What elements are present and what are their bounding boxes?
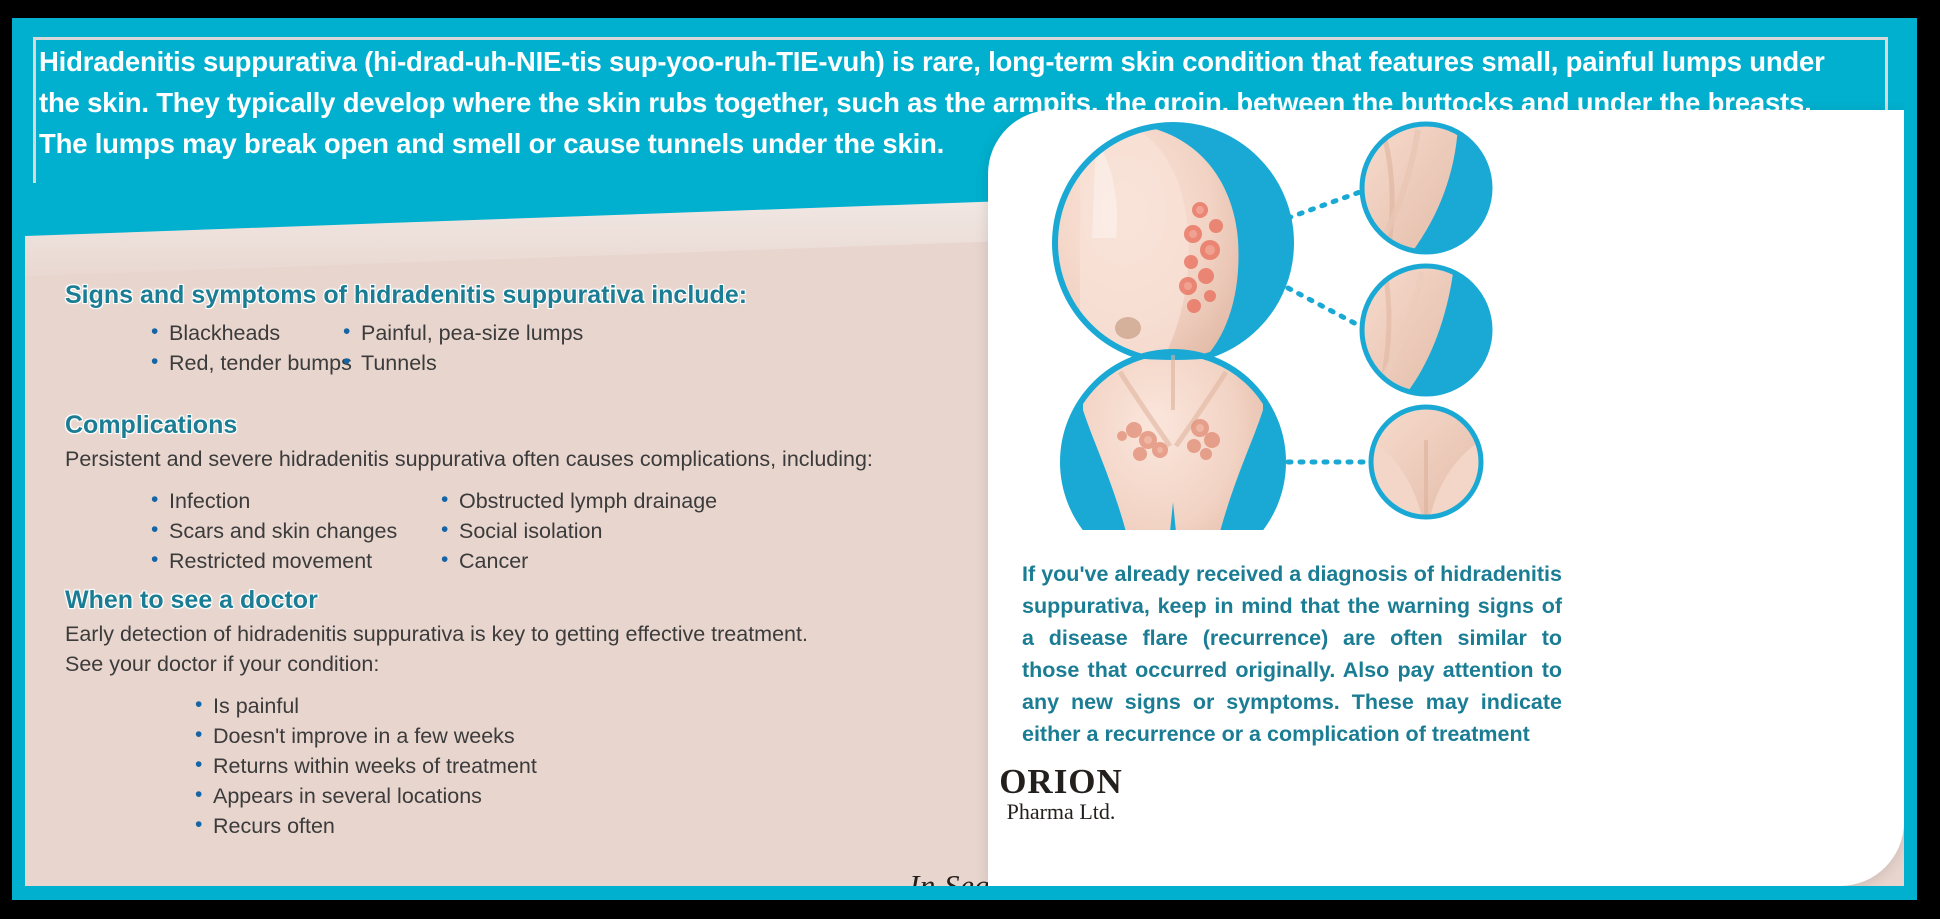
list-item: Red, tender bumps xyxy=(151,348,343,378)
groin-detail xyxy=(1371,407,1481,517)
medical-illustrations xyxy=(988,110,1904,530)
orion-subtitle: Pharma Ltd. xyxy=(981,799,1141,825)
armpit-detail-upper xyxy=(1362,124,1490,252)
armpit-lesions-illustration xyxy=(1048,120,1308,372)
poster-border-frame: Hidradenitis suppurativa (hi-drad-uh-NIE… xyxy=(12,18,1917,900)
list-item: Infection xyxy=(151,486,441,516)
symptoms-bullet-columns: Blackheads Red, tender bumps Painful, pe… xyxy=(151,318,747,378)
complications-bullet-columns: Infection Scars and skin changes Restric… xyxy=(151,486,873,576)
list-item: Appears in several locations xyxy=(195,781,808,811)
groin-lesions-illustration xyxy=(1058,348,1288,530)
list-item: Social isolation xyxy=(441,516,717,546)
list-item: Returns within weeks of treatment xyxy=(195,751,808,781)
symptoms-list-right: Painful, pea-size lumps Tunnels xyxy=(343,318,583,378)
connector-line-upper xyxy=(1288,192,1360,218)
list-item: Recurs often xyxy=(195,811,808,841)
section-complications: Complications Persistent and severe hidr… xyxy=(65,411,873,576)
complications-intro: Persistent and severe hidradenitis suppu… xyxy=(65,444,873,474)
orion-name: ORION xyxy=(981,764,1141,799)
illustration-svg xyxy=(988,110,1904,530)
list-item: Restricted movement xyxy=(151,546,441,576)
poster-stage: Hidradenitis suppurativa (hi-drad-uh-NIE… xyxy=(25,31,1904,886)
complications-heading: Complications xyxy=(65,411,873,440)
list-item: Scars and skin changes xyxy=(151,516,441,546)
doctor-intro-line-1: Early detection of hidradenitis suppurat… xyxy=(65,619,808,649)
doctor-heading: When to see a doctor xyxy=(65,586,808,615)
list-item: Doesn't improve in a few weeks xyxy=(195,721,808,751)
list-item: Tunnels xyxy=(343,348,583,378)
section-when-to-see-a-doctor: When to see a doctor Early detection of … xyxy=(65,586,808,841)
list-item: Obstructed lymph drainage xyxy=(441,486,717,516)
armpit-detail-lower xyxy=(1362,266,1490,394)
doctor-intro-line-2: See your doctor if your condition: xyxy=(65,649,808,679)
list-item: Painful, pea-size lumps xyxy=(343,318,583,348)
symptoms-list-left: Blackheads Red, tender bumps xyxy=(151,318,343,378)
section-signs-and-symptoms: Signs and symptoms of hidradenitis suppu… xyxy=(65,281,747,378)
list-item: Blackheads xyxy=(151,318,343,348)
symptoms-heading: Signs and symptoms of hidradenitis suppu… xyxy=(65,281,747,310)
list-item: Cancer xyxy=(441,546,717,576)
complications-list-left: Infection Scars and skin changes Restric… xyxy=(151,486,441,576)
orion-logo-wordmark: ORION Pharma Ltd. xyxy=(981,764,1141,825)
connector-line-lower xyxy=(1288,288,1360,326)
infographic-poster: Hidradenitis suppurativa (hi-drad-uh-NIE… xyxy=(0,0,1940,919)
complications-list-right: Obstructed lymph drainage Social isolati… xyxy=(441,486,717,576)
card-note-text: If you've already received a diagnosis o… xyxy=(1022,558,1562,750)
doctor-list: Is painful Doesn't improve in a few week… xyxy=(195,691,808,841)
list-item: Is painful xyxy=(195,691,808,721)
